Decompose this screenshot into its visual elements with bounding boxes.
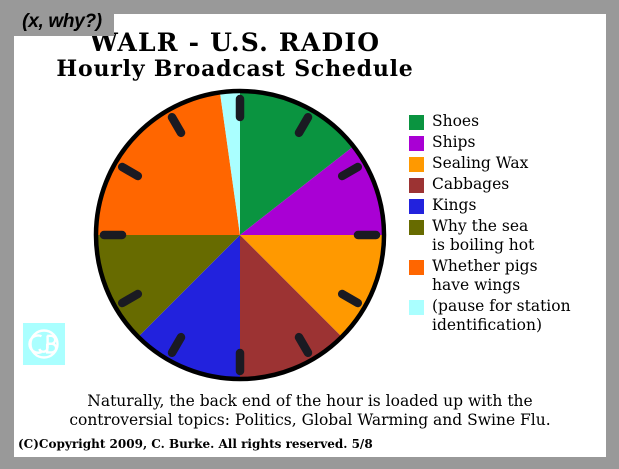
legend-item-label: Cabbages <box>432 175 509 194</box>
legend-item: (pause for station identification) <box>409 297 609 335</box>
legend-color-swatch <box>409 199 424 214</box>
legend-item-label: Whether pigs have wings <box>432 257 538 295</box>
legend-item: Whether pigs have wings <box>409 257 609 295</box>
comic-caption: Naturally, the back end of the hour is l… <box>22 392 598 430</box>
legend-item-label: Sealing Wax <box>432 154 528 173</box>
legend-item: Why the sea is boiling hot <box>409 217 609 255</box>
pie-chart-svg <box>88 83 392 387</box>
pie-chart <box>88 83 392 387</box>
legend-item-label: (pause for station identification) <box>432 297 571 335</box>
legend-color-swatch <box>409 178 424 193</box>
caption-line-2: controversial topics: Politics, Global W… <box>69 411 550 429</box>
copyright-notice: (C)Copyright 2009, C. Burke. All rights … <box>18 437 373 451</box>
legend-color-swatch <box>409 300 424 315</box>
legend-item: Kings <box>409 196 609 215</box>
legend-item-label: Shoes <box>432 112 479 131</box>
legend-color-swatch <box>409 136 424 151</box>
legend-item: Ships <box>409 133 609 152</box>
legend-color-swatch <box>409 260 424 275</box>
legend-item: Shoes <box>409 112 609 131</box>
legend-item: Cabbages <box>409 175 609 194</box>
blog-tag: (x, why?) <box>10 8 114 36</box>
legend-item-label: Ships <box>432 133 475 152</box>
comic-panel: (x, why?) WALR - U.S. RADIO Hourly Broad… <box>0 0 619 469</box>
legend-item: Sealing Wax <box>409 154 609 173</box>
page-subtitle: Hourly Broadcast Schedule <box>0 56 470 82</box>
pie-slice <box>96 92 240 235</box>
legend-item-label: Why the sea is boiling hot <box>432 217 534 255</box>
legend-item-label: Kings <box>432 196 476 215</box>
legend-color-swatch <box>409 115 424 130</box>
legend-color-swatch <box>409 157 424 172</box>
cjb-logo-icon <box>23 323 65 365</box>
legend-color-swatch <box>409 220 424 235</box>
chart-legend: ShoesShipsSealing WaxCabbagesKingsWhy th… <box>409 112 609 337</box>
caption-line-1: Naturally, the back end of the hour is l… <box>87 392 532 410</box>
